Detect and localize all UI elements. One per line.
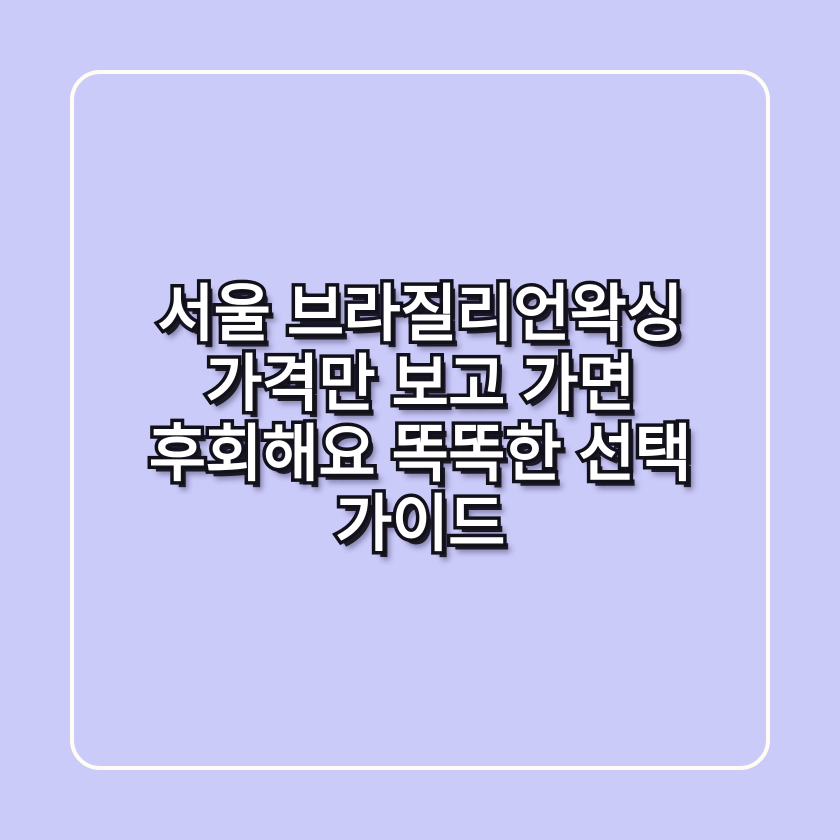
headline-line-4: 가이드: [86, 490, 754, 560]
poster-canvas: 서울 브라질리언왁싱 가격만 보고 가면 후회해요 똑똑한 선택 가이드: [0, 0, 840, 840]
headline-line-1: 서울 브라질리언왁싱: [86, 280, 754, 350]
headline-text-block: 서울 브라질리언왁싱 가격만 보고 가면 후회해요 똑똑한 선택 가이드: [0, 0, 840, 840]
headline-line-3: 후회해요 똑똑한 선택: [86, 420, 754, 490]
headline-line-2: 가격만 보고 가면: [86, 350, 754, 420]
